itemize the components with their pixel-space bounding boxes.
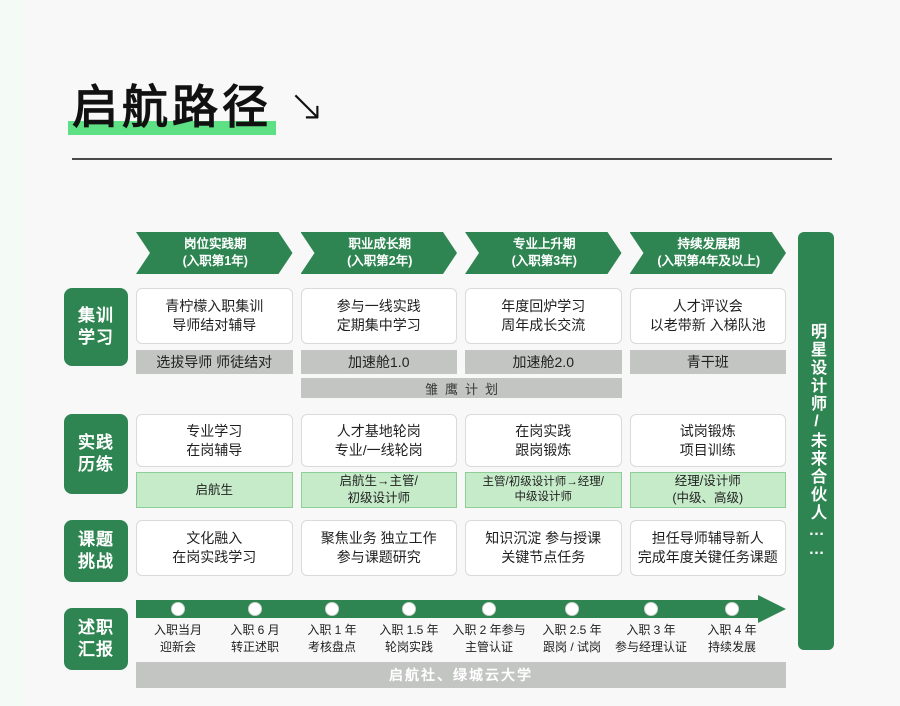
milestone-6-line1: 入职 2.5 年 [542, 623, 601, 637]
row-label-training-line2: 学习 [78, 327, 114, 349]
timeline-line [136, 600, 766, 618]
page-title-block: 启航路径 ↘ [72, 72, 832, 134]
row-label-practice-line1: 实践 [78, 432, 114, 454]
milestone-label-2[interactable]: 入职 6 月 转正述职 [230, 622, 279, 656]
milestone-label-1[interactable]: 入职当月 迎新会 [154, 622, 202, 656]
timeline-dot-2[interactable] [248, 602, 262, 616]
row3-card-band: 文化融入 在岗实践学习 聚焦业务 独立工作 参与课题研究 知识沉淀 参与授课 关… [136, 520, 786, 576]
row3-card-2-line2: 参与课题研究 [337, 548, 421, 567]
row1-card-2-line1: 参与一线实践 [337, 297, 421, 316]
row1-program-1[interactable]: 选拔导师 师徒结对 [136, 350, 293, 374]
milestone-1-line2: 迎新会 [160, 640, 196, 654]
phase-name-1: 岗位实践期 [184, 236, 247, 253]
row1-card-2[interactable]: 参与一线实践 定期集中学习 [301, 288, 458, 344]
milestone-3-line1: 入职 1 年 [307, 623, 356, 637]
row1-card-4[interactable]: 人才评议会 以老带新 入梯队池 [630, 288, 787, 344]
career-path-matrix: 岗位实践期 (入职第1年) 职业成长期 (入职第2年) 专业上升期 (入职第3年… [64, 232, 836, 692]
milestone-label-5[interactable]: 入职 2 年参与 主管认证 [452, 622, 525, 656]
row2-grade-4-line1: 经理/设计师 [675, 473, 741, 490]
row1-card-4-line2: 以老带新 入梯队池 [650, 316, 766, 335]
row1-card-1-line1: 青柠檬入职集训 [165, 297, 263, 316]
row2-grade-3[interactable]: 主管/初级设计师→经理/ 中级设计师 [465, 472, 622, 508]
phase-period-4: (入职第4年及以上) [657, 253, 760, 270]
row2-grade-4[interactable]: 经理/设计师 (中级、高级) [630, 472, 787, 508]
milestone-label-6[interactable]: 入职 2.5 年 跟岗 / 试岗 [542, 622, 601, 656]
row2-card-4-line1: 试岗锻炼 [680, 422, 736, 441]
row3-card-1[interactable]: 文化融入 在岗实践学习 [136, 520, 293, 576]
row-label-project-line2: 挑战 [78, 551, 114, 573]
row3-card-3-line1: 知识沉淀 参与授课 [485, 529, 601, 548]
row-label-project[interactable]: 课题 挑战 [64, 520, 128, 582]
phase-period-2: (入职第2年) [347, 253, 412, 270]
row1-card-2-line2: 定期集中学习 [337, 316, 421, 335]
row3-card-4[interactable]: 担任导师辅导新人 完成年度关键任务课题 [630, 520, 787, 576]
timeline-dot-4[interactable] [402, 602, 416, 616]
outcome-vertical-bar[interactable]: 明星设计师/未来合伙人…… [798, 232, 834, 650]
milestone-2-line2: 转正述职 [231, 640, 279, 654]
row3-card-3-line2: 关键节点任务 [501, 548, 585, 567]
down-right-arrow-icon: ↘ [288, 84, 325, 134]
row2-grade-3-line1: 主管/初级设计师→经理/ [483, 475, 604, 490]
row1-program-3[interactable]: 加速舱2.0 [465, 350, 622, 374]
title-divider [72, 158, 832, 160]
row1-card-1[interactable]: 青柠檬入职集训 导师结对辅导 [136, 288, 293, 344]
row-label-report[interactable]: 述职 汇报 [64, 608, 128, 670]
timeline-dot-7[interactable] [644, 602, 658, 616]
timeline-dot-3[interactable] [325, 602, 339, 616]
row2-grade-band: 启航生 启航生→主管/ 初级设计师 主管/初级设计师→经理/ 中级设计师 经理/… [136, 472, 786, 508]
milestone-label-8[interactable]: 入职 4 年 持续发展 [707, 622, 756, 656]
row-label-practice[interactable]: 实践 历练 [64, 414, 128, 494]
milestone-8-line2: 持续发展 [708, 640, 756, 654]
support-platform-bar[interactable]: 启航社、绿城云大学 [136, 662, 786, 688]
milestone-7-line1: 入职 3 年 [626, 623, 675, 637]
timeline-arrowhead-icon [758, 595, 786, 623]
milestone-6-line2: 跟岗 / 试岗 [543, 640, 601, 654]
row2-card-2-line2: 专业/一线轮岗 [335, 441, 423, 460]
row1-program-band: 选拔导师 师徒结对 加速舱1.0 加速舱2.0 青干班 [136, 350, 786, 374]
milestone-2-line1: 入职 6 月 [230, 623, 279, 637]
row3-card-4-line2: 完成年度关键任务课题 [638, 548, 778, 567]
row2-card-1-line1: 专业学习 [186, 422, 242, 441]
row-label-training[interactable]: 集训 学习 [64, 288, 128, 366]
infographic-page: 启航路径 ↘ 岗位实践期 (入职第1年) 职业成长期 (入职第2年) 专业上升期… [0, 0, 900, 706]
row2-grade-3-line2: 中级设计师 [515, 490, 573, 505]
phase-chevron-1[interactable]: 岗位实践期 (入职第1年) [136, 232, 293, 274]
page-title-text: 启航路径 [72, 81, 272, 133]
phase-chevron-4[interactable]: 持续发展期 (入职第4年及以上) [630, 232, 787, 274]
row-label-report-line1: 述职 [78, 617, 114, 639]
row2-grade-2-line1: 启航生→主管/ [340, 473, 418, 490]
row2-card-3[interactable]: 在岗实践 跟岗锻炼 [465, 414, 622, 467]
page-title: 启航路径 [72, 84, 272, 134]
row1-program-2[interactable]: 加速舱1.0 [301, 350, 458, 374]
row2-grade-1-line1: 启航生 [195, 482, 233, 499]
row2-card-1[interactable]: 专业学习 在岗辅导 [136, 414, 293, 467]
row2-card-2[interactable]: 人才基地轮岗 专业/一线轮岗 [301, 414, 458, 467]
phase-header-row: 岗位实践期 (入职第1年) 职业成长期 (入职第2年) 专业上升期 (入职第3年… [136, 232, 786, 274]
milestone-3-line2: 考核盘点 [308, 640, 356, 654]
row1-card-1-line2: 导师结对辅导 [172, 316, 256, 335]
row-label-practice-line2: 历练 [78, 454, 114, 476]
milestone-8-line1: 入职 4 年 [707, 623, 756, 637]
row1-card-3-line1: 年度回炉学习 [501, 297, 585, 316]
milestone-5-line2: 主管认证 [465, 640, 513, 654]
row1-program-4[interactable]: 青干班 [630, 350, 787, 374]
phase-name-2: 职业成长期 [348, 236, 411, 253]
timeline-bar [136, 600, 786, 618]
milestone-label-4[interactable]: 入职 1.5 年 轮岗实践 [379, 622, 438, 656]
phase-chevron-3[interactable]: 专业上升期 (入职第3年) [465, 232, 622, 274]
row3-card-1-line2: 在岗实践学习 [172, 548, 256, 567]
row2-card-1-line2: 在岗辅导 [186, 441, 242, 460]
row3-card-2[interactable]: 聚焦业务 独立工作 参与课题研究 [301, 520, 458, 576]
milestone-1-line1: 入职当月 [154, 623, 202, 637]
timeline-dot-5[interactable] [482, 602, 496, 616]
row1-card-3[interactable]: 年度回炉学习 周年成长交流 [465, 288, 622, 344]
row-label-project-line1: 课题 [78, 529, 114, 551]
row3-card-1-line1: 文化融入 [186, 529, 242, 548]
row-label-training-line1: 集训 [78, 305, 114, 327]
row2-card-band: 专业学习 在岗辅导 人才基地轮岗 专业/一线轮岗 在岗实践 跟岗锻炼 试岗锻炼 … [136, 414, 786, 467]
phase-chevron-2[interactable]: 职业成长期 (入职第2年) [301, 232, 458, 274]
row1-card-3-line2: 周年成长交流 [501, 316, 585, 335]
row3-card-4-line1: 担任导师辅导新人 [652, 529, 764, 548]
row2-card-4-line2: 项目训练 [680, 441, 736, 460]
row2-card-3-line1: 在岗实践 [515, 422, 571, 441]
timeline-dot-1[interactable] [171, 602, 185, 616]
row2-grade-2[interactable]: 启航生→主管/ 初级设计师 [301, 472, 458, 508]
milestone-label-7[interactable]: 入职 3 年 参与经理认证 [615, 622, 687, 656]
row2-card-3-line2: 跟岗锻炼 [515, 441, 571, 460]
row2-card-2-line1: 人才基地轮岗 [337, 422, 421, 441]
row2-grade-4-line2: (中级、高级) [672, 490, 743, 507]
row-label-report-line2: 汇报 [78, 639, 114, 661]
milestone-4-line1: 入职 1.5 年 [379, 623, 438, 637]
phase-name-3: 专业上升期 [513, 236, 576, 253]
milestone-4-line2: 轮岗实践 [385, 640, 433, 654]
row3-card-3[interactable]: 知识沉淀 参与授课 关键节点任务 [465, 520, 622, 576]
row3-card-2-line1: 聚焦业务 独立工作 [321, 529, 437, 548]
timeline-dot-8[interactable] [725, 602, 739, 616]
spanning-program-band[interactable]: 雏鹰计划 [301, 378, 622, 398]
phase-period-3: (入职第3年) [512, 253, 577, 270]
milestone-label-3[interactable]: 入职 1 年 考核盘点 [307, 622, 356, 656]
row2-grade-1[interactable]: 启航生 [136, 472, 293, 508]
milestone-5-line1: 入职 2 年参与 [452, 623, 525, 637]
phase-name-4: 持续发展期 [677, 236, 740, 253]
row1-card-4-line1: 人才评议会 [673, 297, 743, 316]
row2-grade-2-line2: 初级设计师 [347, 490, 410, 507]
phase-period-1: (入职第1年) [183, 253, 248, 270]
row2-card-4[interactable]: 试岗锻炼 项目训练 [630, 414, 787, 467]
timeline-dot-6[interactable] [565, 602, 579, 616]
milestone-7-line2: 参与经理认证 [615, 640, 687, 654]
row1-card-band: 青柠檬入职集训 导师结对辅导 参与一线实践 定期集中学习 年度回炉学习 周年成长… [136, 288, 786, 344]
